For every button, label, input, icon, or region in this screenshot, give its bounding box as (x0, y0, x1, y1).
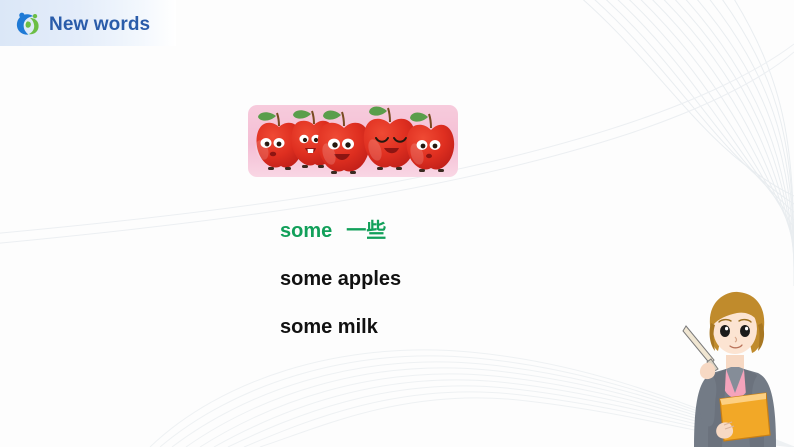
headword-english: some (280, 220, 332, 242)
five-cartoon-apples-image (248, 88, 458, 183)
swirl-leaf-logo-icon (14, 10, 42, 38)
page-title: New words (49, 15, 150, 34)
headword-line: some一些 (280, 220, 610, 241)
cartoon-teacher-with-pointer-image (682, 289, 786, 447)
header: New words (14, 9, 150, 39)
headword-chinese: 一些 (346, 218, 386, 242)
slide-canvas: New words (0, 0, 794, 447)
phrase-line-1: some apples (280, 269, 610, 289)
vocabulary-block: some一些 some apples some milk (280, 220, 610, 337)
phrase-line-2: some milk (280, 317, 610, 337)
